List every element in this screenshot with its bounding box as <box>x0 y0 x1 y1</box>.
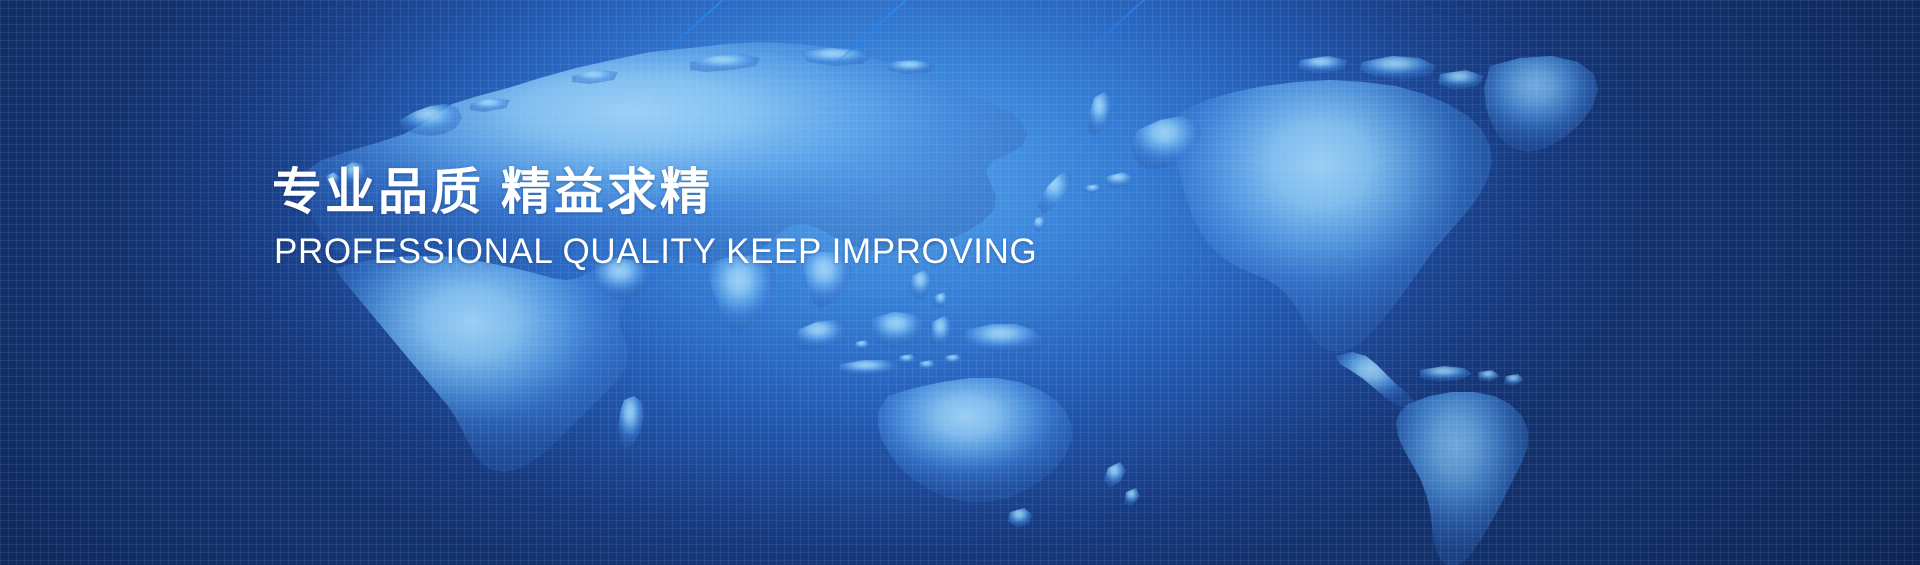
banner-subheadline-english: PROFESSIONAL QUALITY KEEP IMPROVING <box>274 230 1037 274</box>
banner-copy: 专业品质 精益求精 PROFESSIONAL QUALITY KEEP IMPR… <box>272 160 1037 274</box>
grid-highlight-mask <box>0 0 1920 565</box>
hero-banner: 专业品质 精益求精 PROFESSIONAL QUALITY KEEP IMPR… <box>0 0 1920 565</box>
banner-headline-chinese: 专业品质 精益求精 <box>272 160 1037 224</box>
